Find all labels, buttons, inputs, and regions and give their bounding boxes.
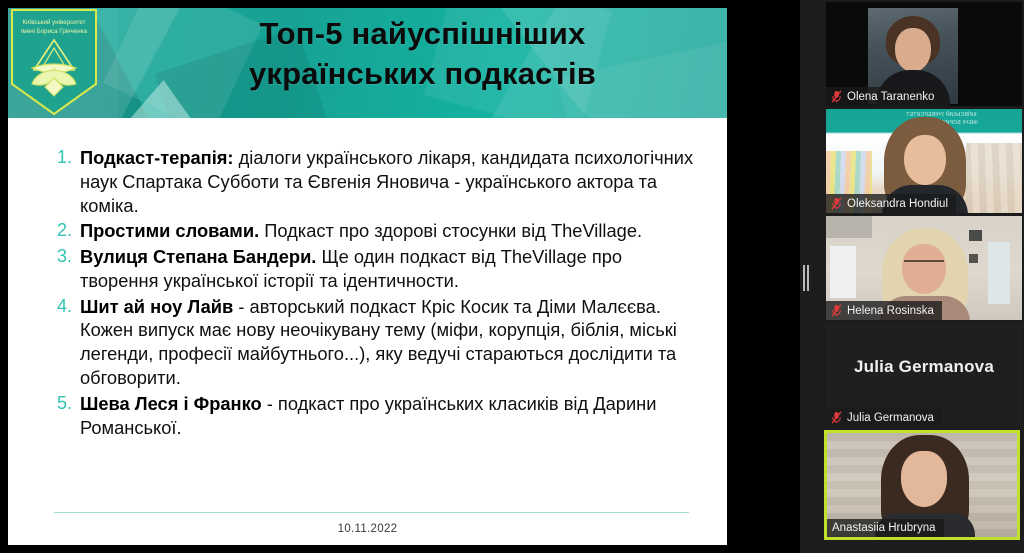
- list-item-number: 4.: [46, 295, 72, 318]
- list-item-title: Подкаст-терапія:: [80, 147, 234, 168]
- presentation-slide: Київський університет імені Бориса Грінч…: [8, 8, 727, 545]
- participant-name: Julia Germanova: [847, 412, 934, 424]
- list-item: 2. Простими словами. Подкаст про здорові…: [38, 219, 705, 243]
- participants-panel[interactable]: Olena Taranenko КИЇВСЬКИЙ УНІВЕРСИТЕТ ІМ…: [812, 0, 1024, 553]
- slide-title-line2: українських подкастів: [128, 54, 717, 94]
- list-item-title: Вулиця Степана Бандери.: [80, 246, 316, 267]
- list-item-number: 2.: [46, 219, 72, 242]
- shared-screen-stage[interactable]: Київський університет імені Бориса Грінч…: [0, 0, 800, 553]
- list-item-title: Шева Леся і Франко: [80, 393, 262, 414]
- camera-off-name: Julia Germanova: [826, 357, 1022, 377]
- participant-name: Anastasiia Hrubryna: [832, 522, 936, 534]
- list-item: 3. Вулиця Степана Бандери. Ще один подка…: [38, 245, 705, 293]
- participant-name-badge: Julia Germanova: [826, 408, 942, 427]
- participant-name: Helena Rosinska: [847, 305, 934, 317]
- participant-tile[interactable]: Olena Taranenko: [826, 2, 1022, 106]
- list-item-number: 1.: [46, 146, 72, 169]
- list-item: 4. Шит ай ноу Лайв - авторський подкаст …: [38, 295, 705, 390]
- list-item: 5. Шева Леся і Франко - подкаст про укра…: [38, 392, 705, 440]
- slide-title-line1: Топ-5 найуспішніших: [128, 14, 717, 54]
- list-item-title: Шит ай ноу Лайв: [80, 296, 233, 317]
- podcast-list: 1. Подкаст-терапія: діалоги українського…: [38, 146, 705, 439]
- mic-muted-icon: [831, 197, 842, 210]
- participant-tile[interactable]: КИЇВСЬКИЙ УНІВЕРСИТЕТ ІМЕНІ БОРИСА ГРІНЧ…: [826, 109, 1022, 213]
- slide-footer-rule: [54, 512, 689, 513]
- participant-tile-active-speaker[interactable]: Anastasiia Hrubryna: [824, 430, 1020, 540]
- participant-name: Oleksandra Hondiul: [847, 198, 948, 210]
- slide-title: Топ-5 найуспішніших українських подкасті…: [128, 14, 717, 93]
- list-item-number: 5.: [46, 392, 72, 415]
- participant-tile[interactable]: Helena Rosinska: [826, 216, 1022, 320]
- mic-muted-icon: [831, 304, 842, 317]
- university-logo: Київський університет імені Бориса Грінч…: [8, 8, 100, 118]
- mic-muted-icon: [831, 411, 842, 424]
- participant-name-badge: Olena Taranenko: [826, 87, 942, 106]
- participant-name-badge: Anastasiia Hrubryna: [827, 519, 944, 537]
- mic-muted-icon: [831, 90, 842, 103]
- list-item-text: Подкаст про здорові стосунки від TheVill…: [259, 220, 642, 241]
- slide-body: 1. Подкаст-терапія: діалоги українського…: [8, 118, 727, 545]
- list-item: 1. Подкаст-терапія: діалоги українського…: [38, 146, 705, 217]
- participant-name-badge: Helena Rosinska: [826, 301, 942, 320]
- logo-line1: Київський університет: [22, 19, 85, 26]
- slide-header-band: Київський університет імені Бориса Грінч…: [8, 8, 727, 118]
- slide-date: 10.11.2022: [8, 523, 727, 535]
- participant-name: Olena Taranenko: [847, 91, 934, 103]
- list-item-title: Простими словами.: [80, 220, 259, 241]
- drag-handle-icon[interactable]: [803, 265, 809, 291]
- logo-line2: імені Бориса Грінченка: [21, 28, 87, 35]
- panel-divider[interactable]: [800, 0, 812, 553]
- participant-name-badge: Oleksandra Hondiul: [826, 194, 956, 213]
- list-item-number: 3.: [46, 245, 72, 268]
- participant-tile[interactable]: Julia Germanova Julia Germanova: [826, 323, 1022, 427]
- meeting-window: Київський університет імені Бориса Грінч…: [0, 0, 1024, 553]
